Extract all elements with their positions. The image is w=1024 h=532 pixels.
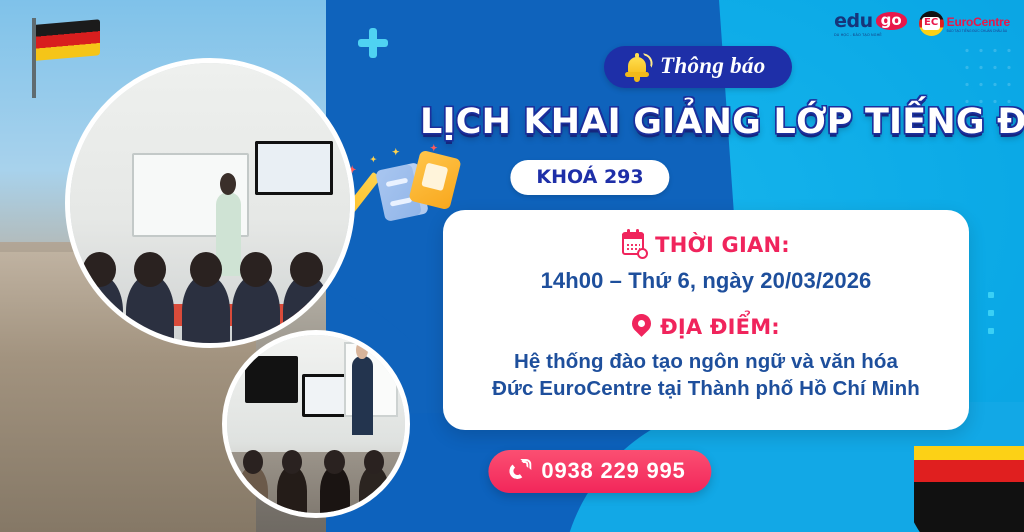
logo-edugo-tagline: DU HỌC - ĐÀO TẠO NGHỀ (834, 33, 882, 37)
place-label: ĐỊA ĐIỂM: (660, 315, 780, 339)
map-pin-icon (632, 314, 651, 339)
classroom-photo (65, 58, 355, 348)
logo-euro-name: EuroCentre (947, 15, 1010, 29)
time-label: THỜI GIAN: (655, 233, 790, 257)
dot-column-pattern (988, 292, 994, 334)
place-line-1: Hệ thống đào tạo ngôn ngữ và văn hóa (467, 348, 945, 375)
time-value: 14h00 – Thứ 6, ngày 20/03/2026 (467, 268, 945, 294)
phone-number: 0938 229 995 (541, 458, 685, 484)
plus-icon (358, 28, 388, 58)
lecture-photo (222, 330, 410, 518)
promo-poster: ✦ ✦ ✦ ✦ (0, 0, 1024, 532)
bell-icon (624, 52, 650, 80)
german-flag-icon (32, 18, 36, 98)
logo-euro-mark-text: EC (922, 17, 940, 30)
german-flag-corner-icon (914, 446, 1024, 532)
phone-button[interactable]: 0938 229 995 (488, 450, 711, 493)
page-title: LỊCH KHAI GIẢNG LỚP TIẾNG ĐỨC A1 (420, 104, 1014, 141)
notice-badge: Thông báo (604, 46, 792, 88)
logo-edugo[interactable]: edu go DU HỌC - ĐÀO TẠO NGHỀ (834, 10, 907, 37)
logo-edugo-main: edu (834, 10, 873, 32)
logo-eurocentre[interactable]: EC EuroCentre ĐÀO TẠO TIẾNG ĐỨC CHUẨN CH… (919, 11, 1010, 36)
calendar-clock-icon (622, 232, 646, 257)
notice-badge-label: Thông báo (660, 53, 766, 79)
brand-logos: edu go DU HỌC - ĐÀO TẠO NGHỀ EC EuroCent… (834, 10, 1010, 37)
course-badge: KHOÁ 293 (510, 160, 669, 195)
phone-ring-icon (508, 460, 530, 482)
place-heading: ĐỊA ĐIỂM: (467, 314, 945, 339)
eurocentre-mark-icon: EC (919, 11, 944, 36)
logo-euro-tagline: ĐÀO TẠO TIẾNG ĐỨC CHUẨN CHÂU ÂU (947, 29, 1010, 33)
logo-edugo-badge: go (876, 12, 907, 31)
time-heading: THỜI GIAN: (467, 232, 945, 257)
info-card: THỜI GIAN: 14h00 – Thứ 6, ngày 20/03/202… (443, 210, 969, 430)
place-line-2: Đức EuroCentre tại Thành phố Hồ Chí Minh (467, 375, 945, 402)
books-pencil-icon: ✦ ✦ ✦ ✦ (352, 140, 472, 220)
